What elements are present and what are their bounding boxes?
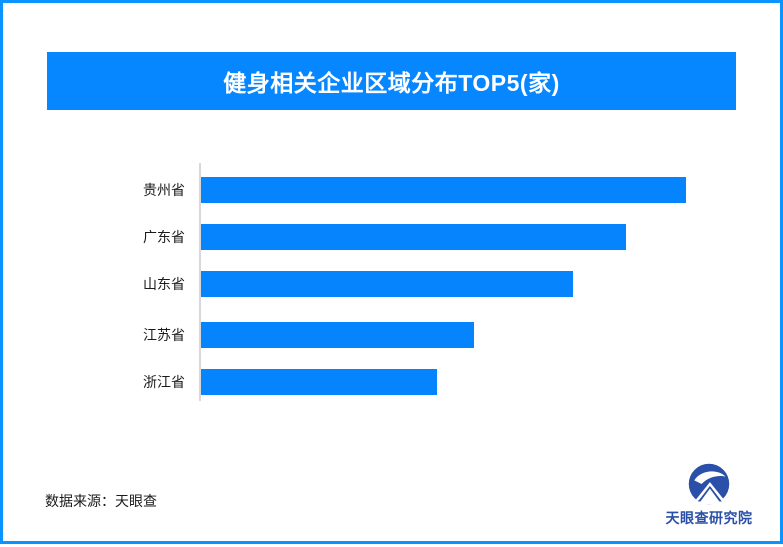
bar-track-0 (201, 177, 686, 203)
bar-track-1 (201, 224, 686, 250)
bar-category-label-1: 广东省 (63, 224, 185, 250)
bar-track-2 (201, 271, 686, 297)
bar-category-label-2: 山东省 (63, 271, 185, 297)
table-row: 江苏省 (3, 322, 783, 348)
bar-track-3 (201, 322, 686, 348)
bar-0 (201, 177, 686, 203)
bar-category-label-4: 浙江省 (63, 369, 185, 395)
tianyancha-eye-logo-icon (686, 461, 732, 507)
bar-1 (201, 224, 626, 250)
bar-3 (201, 322, 474, 348)
brand-logo: 天眼查研究院 (653, 461, 765, 529)
brand-wordmark: 天眼查研究院 (666, 508, 753, 528)
table-row: 广东省 (3, 224, 783, 250)
bar-track-4 (201, 369, 686, 395)
infographic-canvas: 健身相关企业区域分布TOP5(家) 贵州省 广东省 山东省 江苏 (0, 0, 783, 544)
bar-category-label-0: 贵州省 (63, 177, 185, 203)
bar-category-label-3: 江苏省 (63, 322, 185, 348)
bar-2 (201, 271, 573, 297)
data-source-note: 数据来源：天眼查 (45, 491, 157, 511)
bar-4 (201, 369, 437, 395)
table-row: 贵州省 (3, 177, 783, 203)
table-row: 山东省 (3, 271, 783, 297)
table-row: 浙江省 (3, 369, 783, 395)
